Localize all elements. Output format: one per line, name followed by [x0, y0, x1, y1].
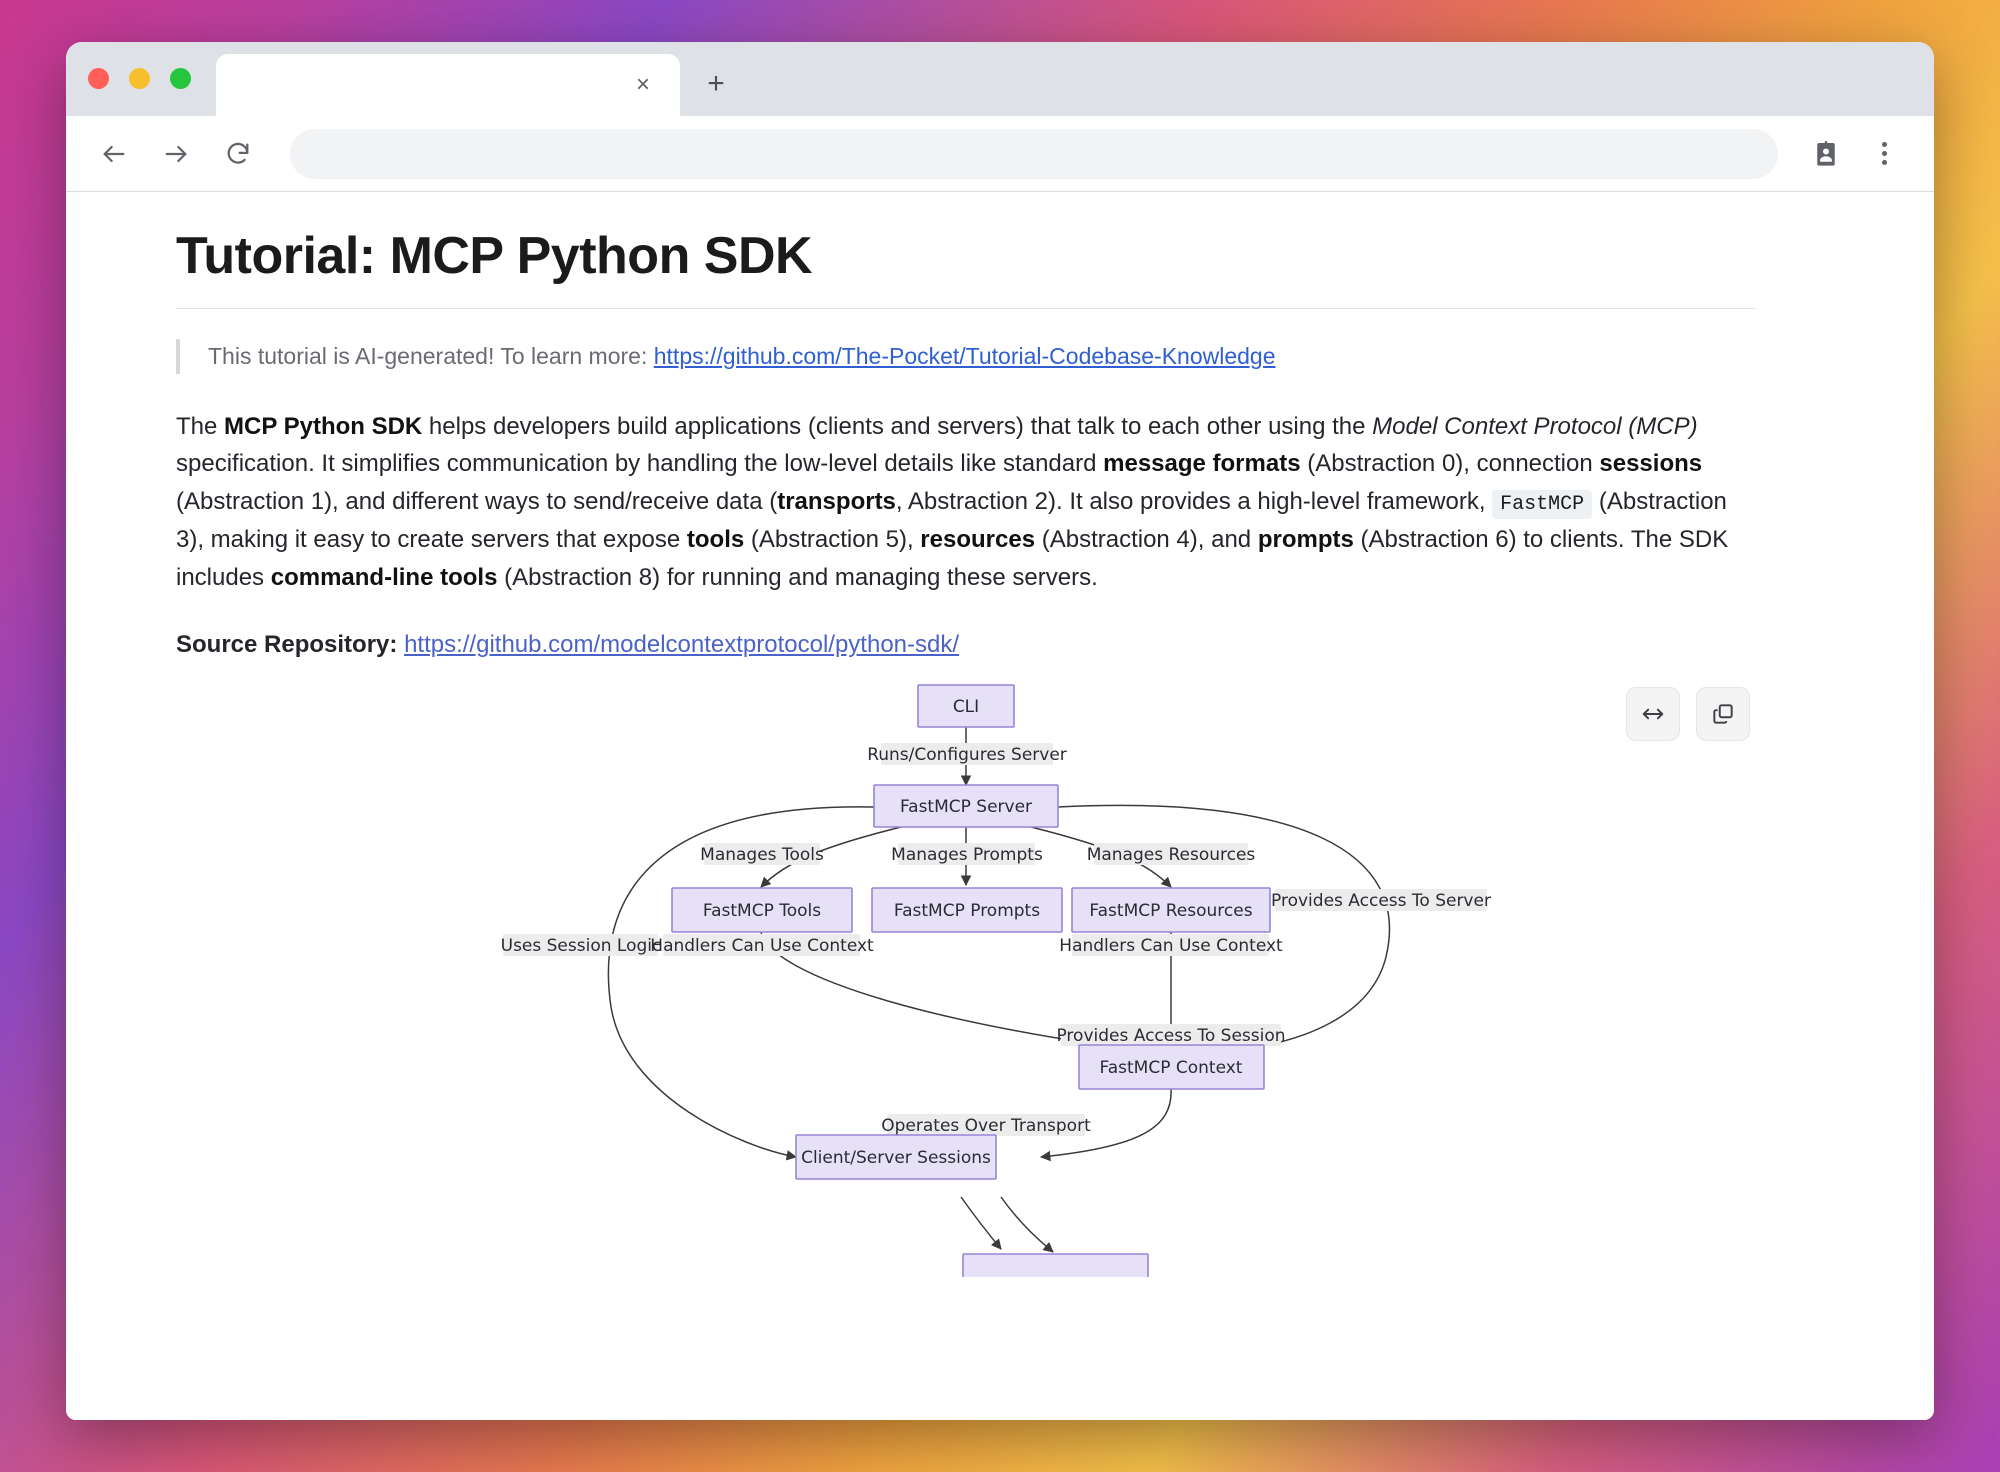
para-seg-11: (Abstraction 8) for running and managing…: [497, 564, 1097, 591]
para-code-fastmcp: FastMCP: [1492, 490, 1592, 519]
svg-text:FastMCP Tools: FastMCP Tools: [703, 901, 821, 921]
source-repository-label: Source Repository:: [176, 631, 397, 658]
horizontal-resize-icon[interactable]: [1626, 687, 1680, 741]
para-bold-cli-tools: command-line tools: [271, 564, 498, 591]
profile-card-icon[interactable]: [1802, 130, 1850, 178]
svg-text:CLI: CLI: [953, 697, 979, 717]
source-repository-line: Source Repository: https://github.com/mo…: [176, 631, 1756, 659]
callout-text: This tutorial is AI-generated! To learn …: [208, 343, 654, 369]
para-seg-1: The: [176, 413, 224, 440]
para-italic-mcp: Model Context Protocol (MCP): [1372, 413, 1697, 440]
source-repository-link[interactable]: https://github.com/modelcontextprotocol/…: [404, 631, 959, 658]
page-content: Tutorial: MCP Python SDK This tutorial i…: [66, 192, 1934, 1420]
close-icon[interactable]: ×: [628, 70, 658, 100]
kebab-menu-icon[interactable]: [1860, 130, 1908, 178]
para-bold-resources: resources: [920, 526, 1035, 553]
svg-text:FastMCP Resources: FastMCP Resources: [1089, 901, 1252, 921]
forward-arrow-icon[interactable]: [150, 128, 202, 180]
back-arrow-icon[interactable]: [88, 128, 140, 180]
diagram-node-cli[interactable]: CLI: [918, 685, 1014, 727]
diagram-canvas: Runs/Configures Server Manages Tools Man…: [341, 677, 1591, 1277]
callout-link[interactable]: https://github.com/The-Pocket/Tutorial-C…: [654, 343, 1276, 369]
svg-text:FastMCP Context: FastMCP Context: [1100, 1058, 1243, 1078]
para-bold-sdk: MCP Python SDK: [224, 413, 422, 440]
svg-text:Manages Prompts: Manages Prompts: [891, 845, 1043, 865]
edge-label-handlers-can-use-context-left: Handlers Can Use Context: [650, 934, 874, 956]
para-seg-5: (Abstraction 1), and different ways to s…: [176, 488, 777, 515]
svg-text:Provides Access To Server: Provides Access To Server: [1271, 891, 1491, 911]
para-seg-8: (Abstraction 5),: [744, 526, 920, 553]
para-bold-sessions: sessions: [1599, 450, 1702, 477]
traffic-lights: [88, 68, 191, 89]
svg-text:Client/Server Sessions: Client/Server Sessions: [801, 1148, 991, 1168]
para-seg-6: , Abstraction 2). It also provides a hig…: [896, 488, 1492, 515]
diagram-node-fastmcp-prompts[interactable]: FastMCP Prompts: [872, 888, 1062, 932]
svg-text:Manages Resources: Manages Resources: [1087, 845, 1256, 865]
svg-text:Uses Session Logic: Uses Session Logic: [501, 936, 662, 956]
ai-generated-callout: This tutorial is AI-generated! To learn …: [176, 339, 1756, 374]
browser-window: × + Tutorial: MCP Python SDK This tutori…: [66, 42, 1934, 1420]
edge-label-provides-access-to-server: Provides Access To Server: [1271, 889, 1491, 911]
edge-label-manages-resources: Manages Resources: [1087, 843, 1256, 865]
para-seg-2: helps developers build applications (cli…: [422, 413, 1372, 440]
diagram-toolbar: [1626, 687, 1750, 741]
para-bold-tools: tools: [687, 526, 744, 553]
close-window-button[interactable]: [88, 68, 109, 89]
diagram-node-fastmcp-resources[interactable]: FastMCP Resources: [1072, 888, 1270, 932]
diagram-node-fastmcp-tools[interactable]: FastMCP Tools: [672, 888, 852, 932]
svg-text:Operates Over Transport: Operates Over Transport: [881, 1116, 1091, 1136]
page-title: Tutorial: MCP Python SDK: [176, 192, 1756, 309]
para-seg-4: (Abstraction 0), connection: [1301, 450, 1600, 477]
copy-icon[interactable]: [1696, 687, 1750, 741]
edge-sessions-transport: [1001, 1197, 1053, 1252]
diagram-node-transport[interactable]: [963, 1254, 1148, 1277]
new-tab-button[interactable]: +: [696, 64, 736, 104]
diagram-node-client-server-sessions[interactable]: Client/Server Sessions: [796, 1135, 996, 1179]
svg-text:Handlers Can Use Context: Handlers Can Use Context: [650, 936, 874, 956]
diagram-node-fastmcp-context[interactable]: FastMCP Context: [1079, 1045, 1264, 1089]
svg-text:Handlers Can Use Context: Handlers Can Use Context: [1059, 936, 1283, 956]
para-bold-message-formats: message formats: [1103, 450, 1300, 477]
edge-label-operates-over-transport: Operates Over Transport: [881, 1114, 1091, 1136]
browser-toolbar: [66, 116, 1934, 192]
architecture-diagram: Runs/Configures Server Manages Tools Man…: [176, 677, 1756, 1277]
edge-label-handlers-can-use-context-right: Handlers Can Use Context: [1059, 934, 1283, 956]
para-seg-3: specification. It simplifies communicati…: [176, 450, 1103, 477]
svg-text:FastMCP Prompts: FastMCP Prompts: [894, 901, 1040, 921]
minimize-window-button[interactable]: [129, 68, 150, 89]
edge-label-provides-access-to-session: Provides Access To Session: [1056, 1024, 1285, 1046]
maximize-window-button[interactable]: [170, 68, 191, 89]
browser-tab[interactable]: ×: [216, 54, 680, 116]
edge-label-manages-tools: Manages Tools: [700, 843, 824, 865]
svg-text:FastMCP Server: FastMCP Server: [900, 797, 1032, 817]
reload-icon[interactable]: [212, 128, 264, 180]
para-seg-9: (Abstraction 4), and: [1035, 526, 1258, 553]
svg-text:Manages Tools: Manages Tools: [700, 845, 824, 865]
address-bar[interactable]: [290, 129, 1778, 179]
tab-strip: × +: [66, 42, 1934, 116]
edge-label-runs-configures-server: Runs/Configures Server: [867, 743, 1067, 765]
para-bold-transports: transports: [777, 488, 896, 515]
edge-sessions-transport-left: [961, 1197, 1001, 1249]
diagram-node-fastmcp-server[interactable]: FastMCP Server: [874, 785, 1058, 827]
svg-text:Runs/Configures Server: Runs/Configures Server: [867, 745, 1067, 765]
intro-paragraph: The MCP Python SDK helps developers buil…: [176, 408, 1756, 598]
edge-label-manages-prompts: Manages Prompts: [891, 843, 1043, 865]
para-bold-prompts: prompts: [1258, 526, 1354, 553]
edge-label-uses-session-logic: Uses Session Logic: [501, 934, 662, 956]
svg-text:Provides Access To Session: Provides Access To Session: [1056, 1026, 1285, 1046]
